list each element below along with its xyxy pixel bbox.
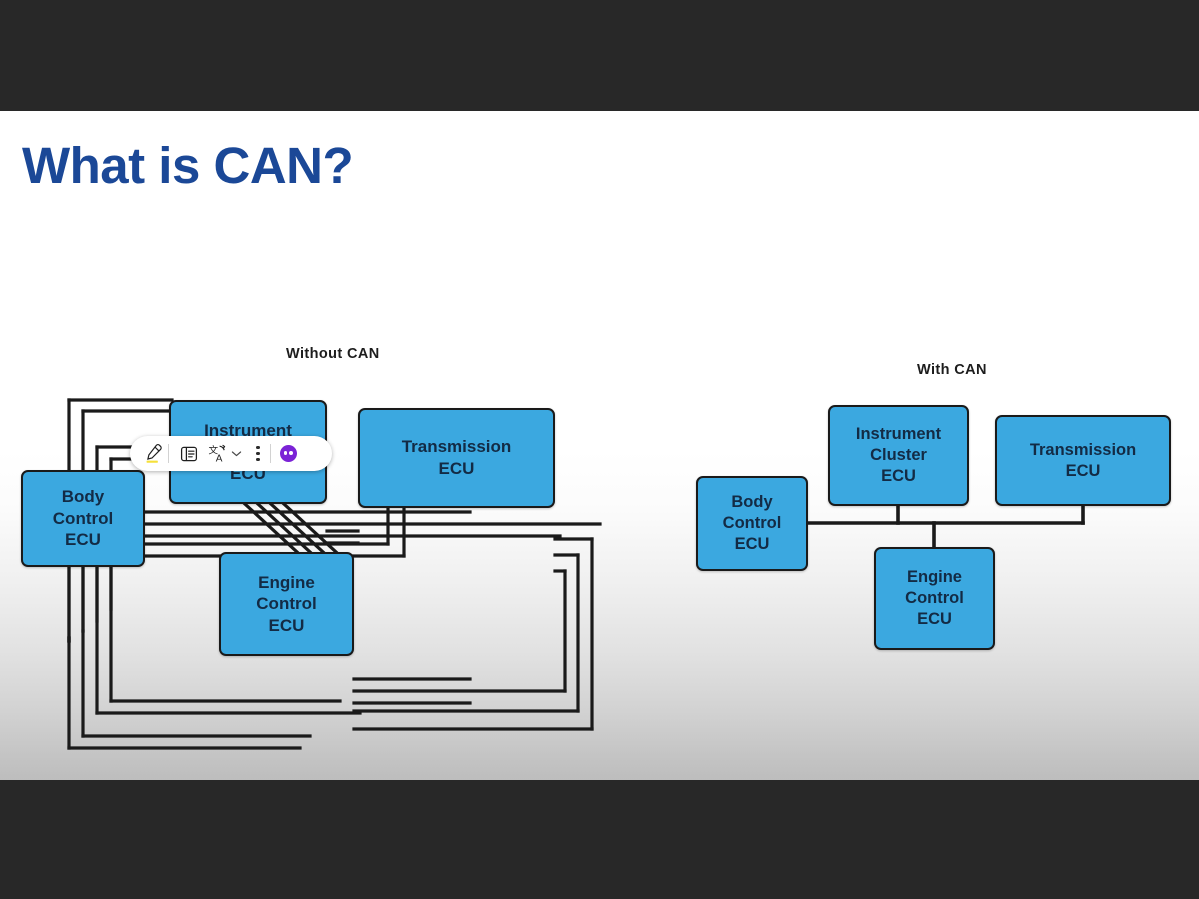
toolbar-divider [168,444,169,463]
ecu-label-line: Engine [907,567,962,588]
ecu-label-line: ECU [735,534,770,555]
presentation-slide: What is CAN? Without CAN [0,111,1199,780]
ecu-box-transmission[interactable]: Transmission ECU [995,415,1171,506]
highlighter-button[interactable] [138,436,168,471]
letterbox-bottom [0,780,1199,899]
chevron-down-icon [231,449,242,458]
ecu-label-line: Instrument [856,424,941,445]
ecu-label-line: Control [723,513,782,534]
more-options-button[interactable] [246,436,270,471]
reading-view-icon [180,445,198,463]
ecu-box-instrument-cluster[interactable]: Instrument Cluster ECU [828,405,969,506]
ecu-label-line: Control [905,588,964,609]
ecu-label-line: ECU [881,466,916,487]
copilot-icon [280,445,297,462]
reading-view-button[interactable] [174,436,204,471]
translate-button[interactable]: 文 A [204,436,246,471]
more-vertical-icon [256,446,259,460]
text-selection-toolbar[interactable]: 文 A [130,436,332,471]
screen: What is CAN? Without CAN [0,0,1199,899]
svg-text:A: A [216,454,223,463]
ecu-label-line: Transmission [1030,440,1136,461]
ecu-label-line: Body [731,492,772,513]
letterbox-top [0,0,1199,111]
ecu-label-line: ECU [917,609,952,630]
ecu-label-line: ECU [1066,461,1101,482]
ecu-label-line: Cluster [870,445,927,466]
translate-icon: 文 A [208,444,228,463]
ecu-box-engine-control[interactable]: Engine Control ECU [874,547,995,650]
highlighter-pen-icon [144,443,163,464]
copilot-button[interactable] [271,436,305,471]
ecu-box-body-control[interactable]: Body Control ECU [696,476,808,571]
